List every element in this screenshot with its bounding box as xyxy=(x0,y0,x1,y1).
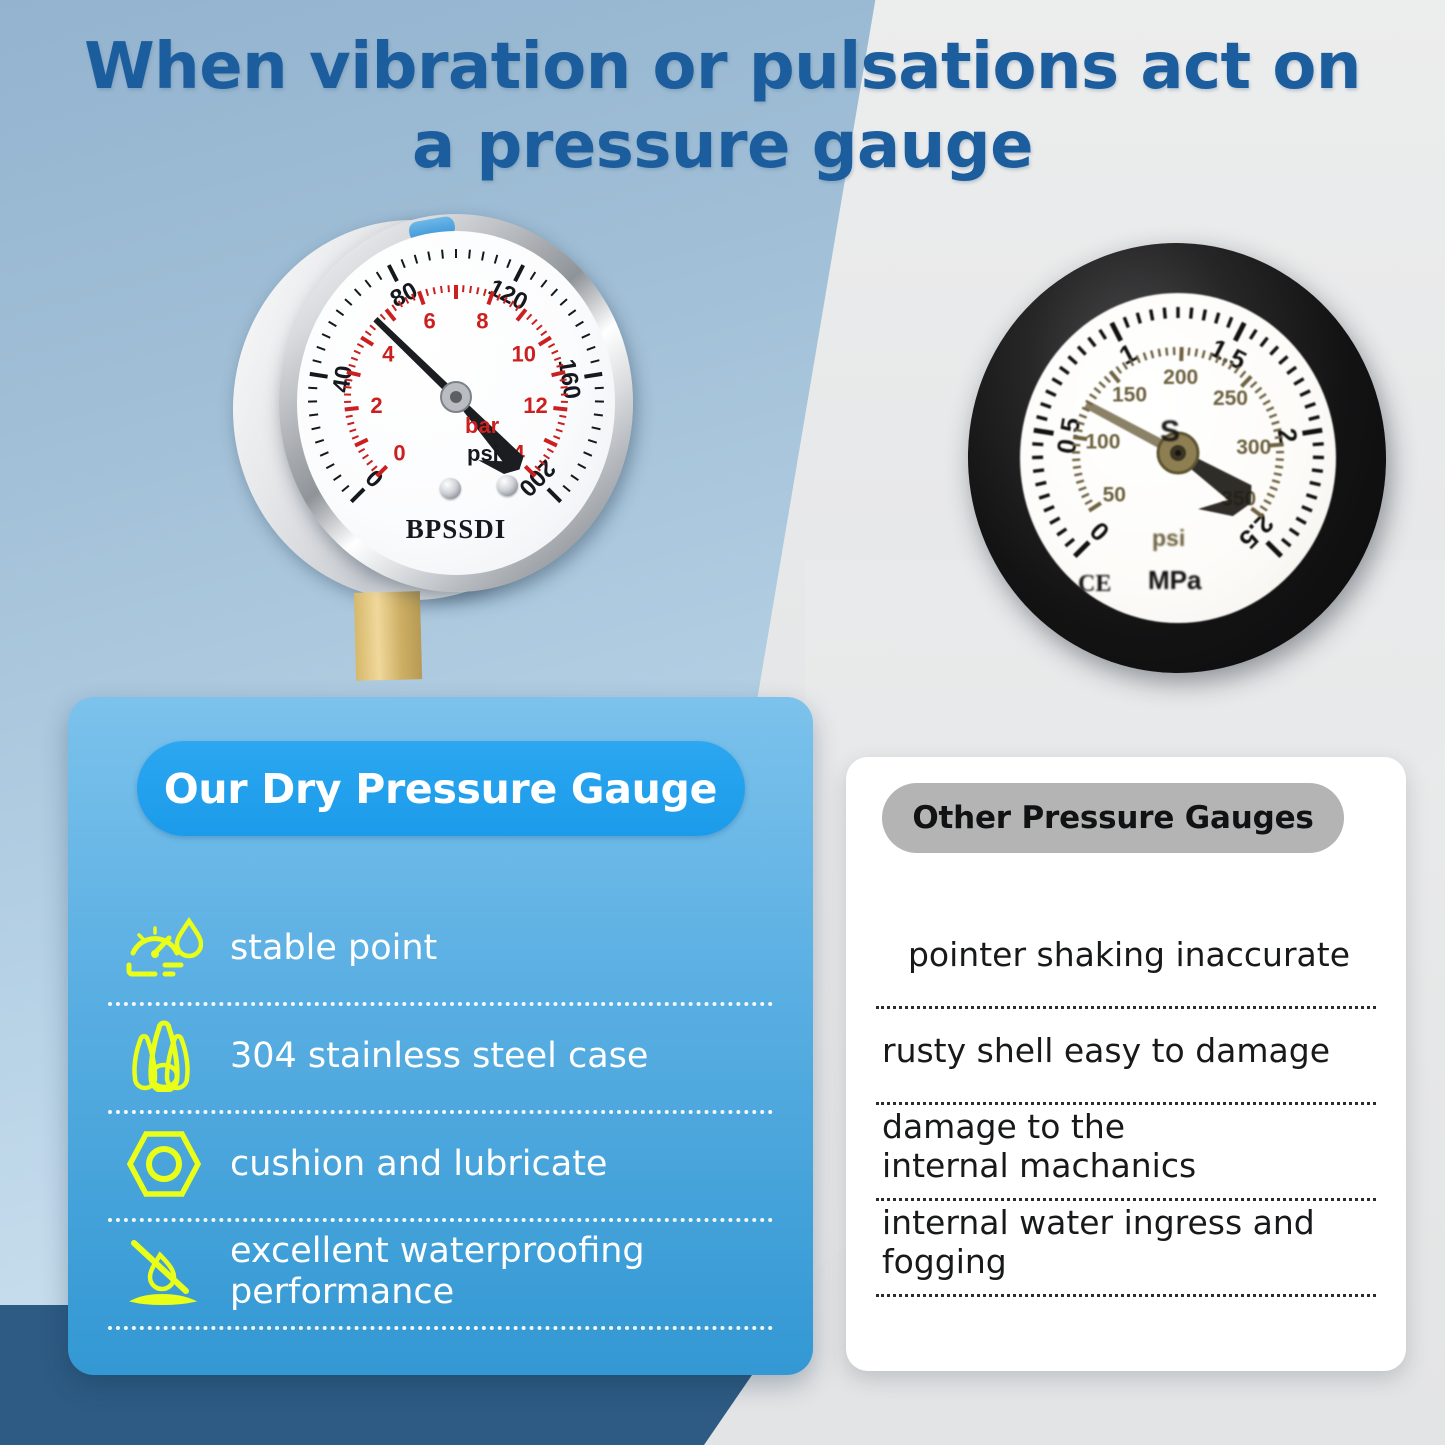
svg-text:50: 50 xyxy=(1103,483,1126,506)
svg-text:0: 0 xyxy=(393,441,405,466)
page-title-line-1: When vibration or pulsations act on xyxy=(60,28,1385,107)
gauge-right-unit-mpa: MPa xyxy=(1148,565,1201,596)
page-title-line-2: a pressure gauge xyxy=(60,107,1385,186)
list-item: cushion and lubricate xyxy=(108,1114,773,1222)
list-item: rusty shell easy to damage xyxy=(876,1009,1376,1105)
list-item-label-l1: excellent waterproofing performance xyxy=(230,1231,645,1312)
list-item: excellent waterproofing performance xyxy=(108,1222,773,1330)
svg-text:0: 0 xyxy=(1084,516,1115,547)
svg-text:6: 6 xyxy=(423,308,435,333)
svg-text:160: 160 xyxy=(553,357,586,401)
gauge-left-dial-face: 04080120160200 02468101214 bar psi xyxy=(297,231,615,575)
no-water-droplet-icon xyxy=(108,1235,220,1309)
svg-text:150: 150 xyxy=(1112,383,1147,406)
ours-feature-list: stable point 304 stainless steel case xyxy=(108,898,773,1330)
gauge-left-unit-bar: bar xyxy=(465,413,499,439)
list-item: internal water ingress and fogging xyxy=(876,1201,1376,1297)
svg-text:300: 300 xyxy=(1236,436,1271,459)
list-item: pointer shaking inaccurate xyxy=(876,913,1376,1009)
infographic-canvas: When vibration or pulsations act on a pr… xyxy=(0,0,1445,1445)
comparison-card-other: Other Pressure Gauges pointer shaking in… xyxy=(846,757,1406,1371)
gauge-left-brand-label: BPSSDI xyxy=(297,514,615,545)
gauge-right-center-mark: S xyxy=(1160,415,1180,449)
svg-text:2: 2 xyxy=(370,393,382,418)
list-item: damage to the internal machanics xyxy=(876,1105,1376,1201)
hex-nut-icon xyxy=(108,1128,220,1200)
svg-text:80: 80 xyxy=(386,277,422,313)
list-item-label: cushion and lubricate xyxy=(220,1144,607,1185)
svg-text:12: 12 xyxy=(523,393,547,418)
svg-text:1: 1 xyxy=(1114,337,1141,370)
steel-tubes-icon xyxy=(108,1020,220,1092)
ours-badge: Our Dry Pressure Gauge xyxy=(137,741,745,836)
list-item-label: 304 stainless steel case xyxy=(220,1036,648,1077)
gauge-image-ours: 04080120160200 02468101214 bar psi xyxy=(233,208,643,638)
gauge-right-ce-mark: CE xyxy=(1078,571,1111,598)
gauge-image-other: 00.511.522.5 50100150200250300350 S psi … xyxy=(968,243,1398,693)
gauge-left-bezel: 04080120160200 02468101214 bar psi xyxy=(279,214,633,592)
svg-text:8: 8 xyxy=(476,308,488,333)
svg-text:250: 250 xyxy=(1213,387,1248,410)
svg-text:4: 4 xyxy=(382,341,395,366)
svg-text:0.5: 0.5 xyxy=(1051,415,1086,455)
gauge-right-dial-face: 00.511.522.5 50100150200250300350 S psi … xyxy=(1020,293,1336,623)
gauge-left-unit-psi: psi xyxy=(467,441,499,467)
gauge-left-face-screw-1 xyxy=(440,478,461,499)
list-item-label: excellent waterproofing performance xyxy=(220,1231,645,1312)
gauge-right-unit-psi: psi xyxy=(1152,525,1185,552)
svg-text:10: 10 xyxy=(511,341,535,366)
list-item: 304 stainless steel case xyxy=(108,1006,773,1114)
svg-text:2: 2 xyxy=(1272,426,1304,445)
comparison-card-ours: Our Dry Pressure Gauge xyxy=(68,697,813,1375)
other-badge: Other Pressure Gauges xyxy=(882,783,1344,853)
gauge-left-face-screw-2 xyxy=(497,475,518,496)
svg-text:40: 40 xyxy=(327,364,358,395)
list-item-label: stable point xyxy=(220,928,437,969)
page-title: When vibration or pulsations act on a pr… xyxy=(60,28,1385,187)
svg-text:200: 200 xyxy=(1163,366,1198,389)
gauge-left-brass-stem xyxy=(354,591,422,681)
list-item: stable point xyxy=(108,898,773,1006)
other-issue-list: pointer shaking inaccurate rusty shell e… xyxy=(876,913,1376,1297)
gauge-droplet-icon xyxy=(108,913,220,983)
svg-text:100: 100 xyxy=(1085,431,1120,454)
